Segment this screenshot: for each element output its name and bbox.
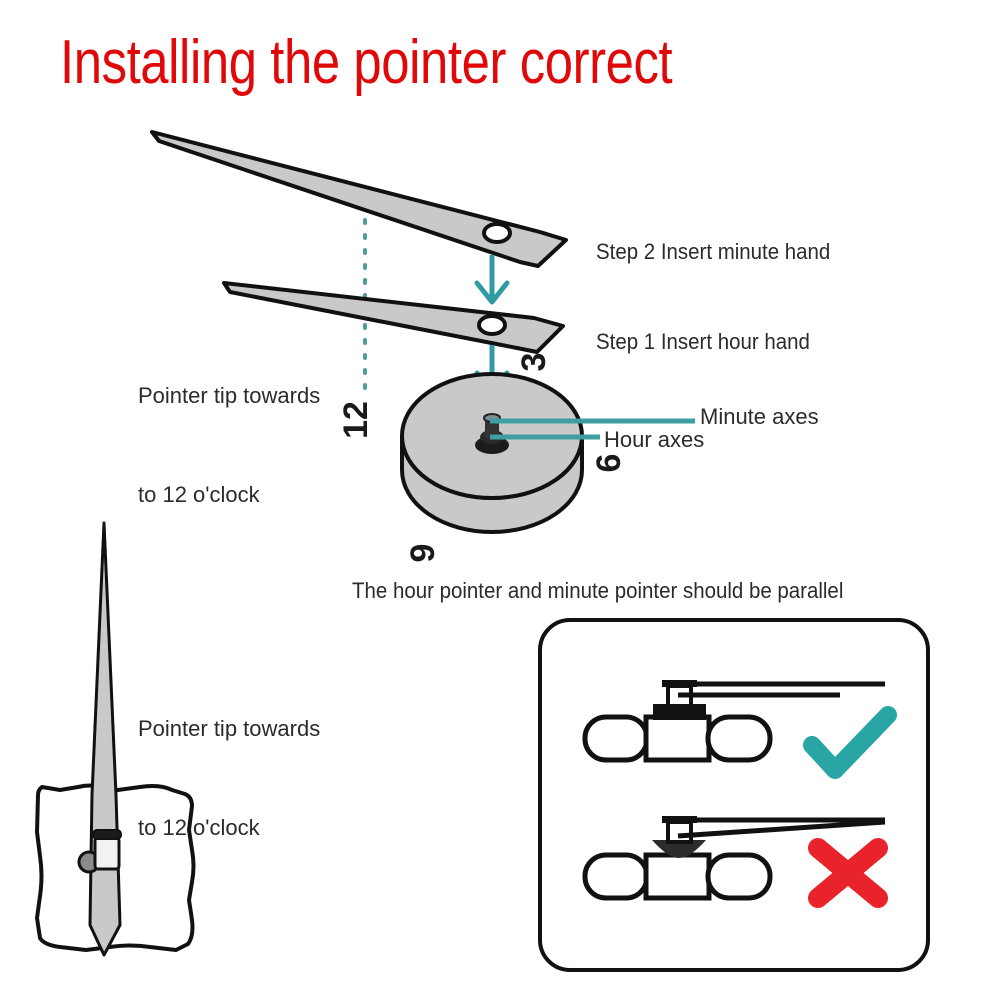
label-pointer-tip-top-line2: to 12 o'clock [138,478,320,511]
clock-numeral-3: 3 [515,353,553,372]
upright-hand-body [90,523,120,955]
label-parallel-note: The hour pointer and minute pointer shou… [352,574,843,607]
clock-numeral-9: 9 [404,544,442,563]
label-minute-axes: Minute axes [700,400,819,433]
label-step-2: Step 2 Insert minute hand [596,235,830,268]
correct-body-left [585,717,647,760]
wrong-body-left [585,855,647,898]
label-pointer-tip-top-line1: Pointer tip towards [138,379,320,412]
instruction-diagram-page: Installing the pointer correct [0,0,1001,1001]
svg-text:3: 3 [515,353,553,372]
minute-hand-body [152,132,566,266]
label-step-1: Step 1 Insert hour hand [596,325,810,358]
wrong-hub-post [668,822,691,842]
correct-body-right [708,717,770,760]
movement-shaft-cap [93,830,121,839]
svg-text:12: 12 [337,401,375,439]
arrow-down-icon-minute [477,255,507,302]
label-pointer-tip-top: Pointer tip towards to 12 o'clock [138,313,320,577]
label-pointer-tip-bottom-line2: to 12 o'clock [138,811,320,844]
label-pointer-tip-bottom-line1: Pointer tip towards [138,712,320,745]
label-pointer-tip-bottom: Pointer tip towards to 12 o'clock [138,646,320,910]
hour-hand-hole [479,316,505,334]
wrong-body-center [646,855,709,898]
movement-shaft-post [95,838,119,869]
minute-hand-hole [484,224,510,242]
svg-text:6: 6 [590,454,628,473]
comparison-panel [540,620,928,970]
minute-hand-part [152,132,566,266]
correct-body-center [646,717,709,760]
clock-numeral-6: 6 [590,454,628,473]
clock-numeral-12: 12 [337,401,375,439]
label-hour-axes: Hour axes [604,423,704,456]
wrong-body-right [708,855,770,898]
comparison-panel-border [540,620,928,970]
svg-text:9: 9 [404,544,442,563]
